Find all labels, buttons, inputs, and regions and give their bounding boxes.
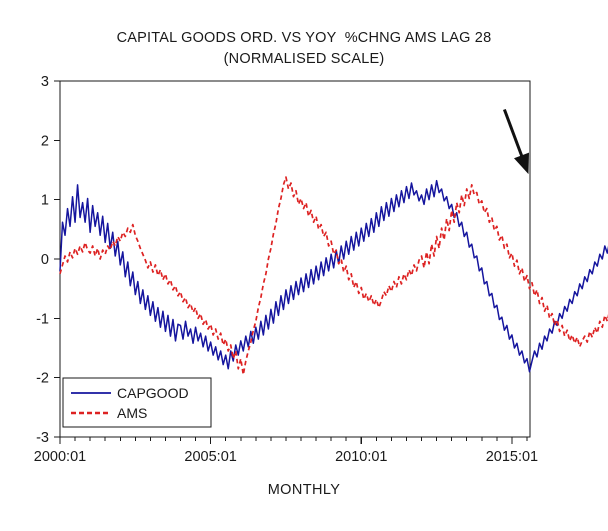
chart-container: CAPITAL GOODS ORD. VS YOY %CHNG AMS LAG … xyxy=(0,0,608,531)
x-axis-label: MONTHLY xyxy=(0,482,608,498)
x-tick-label: 2010:01 xyxy=(335,449,387,465)
y-tick-label: 3 xyxy=(41,74,49,90)
legend-label-capgood: CAPGOOD xyxy=(117,385,189,401)
x-tick-label: 2005:01 xyxy=(184,449,236,465)
chart-subtitle: (NORMALISED SCALE) xyxy=(0,49,608,70)
series-line-capgood xyxy=(60,171,608,372)
downtrend-arrow-head xyxy=(514,153,529,175)
chart-title-block: CAPITAL GOODS ORD. VS YOY %CHNG AMS LAG … xyxy=(0,28,608,70)
downtrend-arrow-shaft xyxy=(504,109,523,159)
chart-title: CAPITAL GOODS ORD. VS YOY %CHNG AMS LAG … xyxy=(0,28,608,49)
legend-label-ams: AMS xyxy=(117,405,147,421)
plot-area: 3210-1-2-32000:012005:012010:012015:01 C… xyxy=(0,0,608,470)
chart-legend: CAPGOODAMS xyxy=(63,378,211,427)
y-tick-label: -1 xyxy=(36,311,49,327)
y-tick-label: -3 xyxy=(36,430,49,446)
x-tick-label: 2000:01 xyxy=(34,449,86,465)
annotation-layer xyxy=(504,109,529,174)
y-tick-label: 1 xyxy=(41,193,49,209)
y-tick-label: -2 xyxy=(36,371,49,387)
x-tick-label: 2015:01 xyxy=(486,449,538,465)
y-tick-label: 2 xyxy=(41,133,49,149)
y-tick-label: 0 xyxy=(41,252,49,268)
